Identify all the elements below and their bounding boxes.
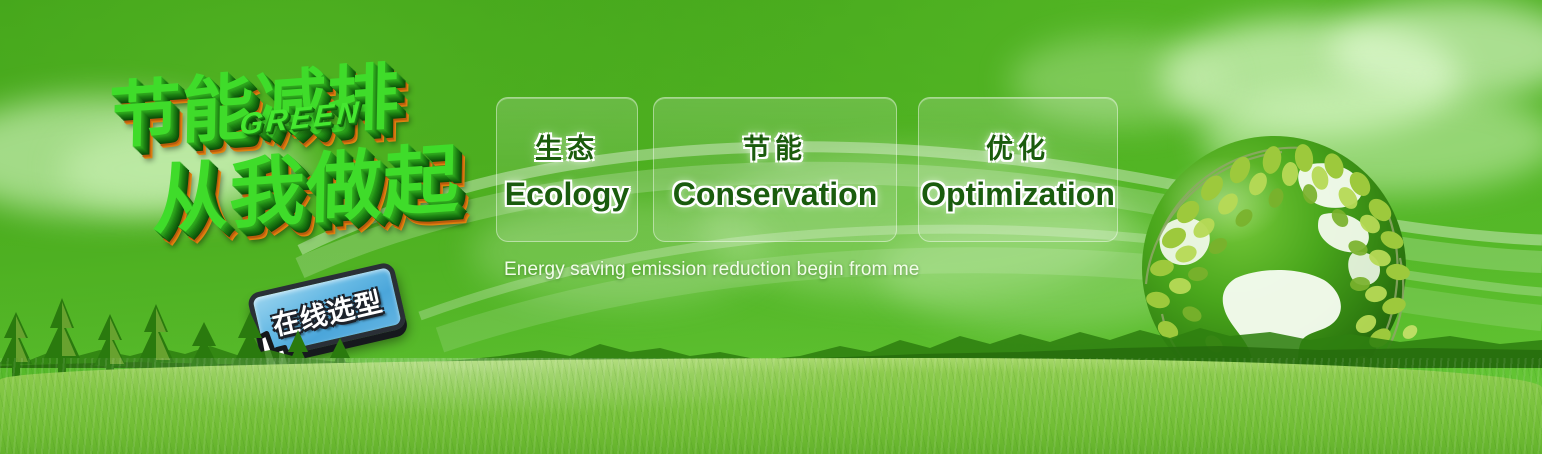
eco-banner: 节能减排 GREEN 从我做起 在线选型 生态 Ecology 节能 Conse… bbox=[0, 0, 1542, 454]
feature-card-optimization[interactable]: 优化 Optimization bbox=[918, 97, 1118, 242]
feature-card-title-en: Optimization bbox=[921, 176, 1115, 213]
feature-card-conservation[interactable]: 节能 Conservation bbox=[653, 97, 897, 242]
tagline-text: Energy saving emission reduction begin f… bbox=[504, 259, 919, 281]
headline-line-2: 从我做起 bbox=[152, 117, 461, 249]
feature-card-title-en: Conservation bbox=[673, 176, 877, 213]
feature-card-title-cn: 节能 bbox=[743, 127, 807, 166]
feature-card-title-cn: 优化 bbox=[986, 127, 1050, 166]
feature-card-ecology[interactable]: 生态 Ecology bbox=[496, 97, 638, 242]
grass-field-icon bbox=[0, 358, 1542, 454]
feature-card-title-en: Ecology bbox=[505, 176, 629, 213]
headline-artwork: 节能减排 GREEN 从我做起 bbox=[101, 31, 505, 273]
cloud-icon bbox=[1330, 0, 1542, 100]
feature-card-title-cn: 生态 bbox=[535, 127, 599, 166]
grass-texture bbox=[0, 358, 1542, 454]
